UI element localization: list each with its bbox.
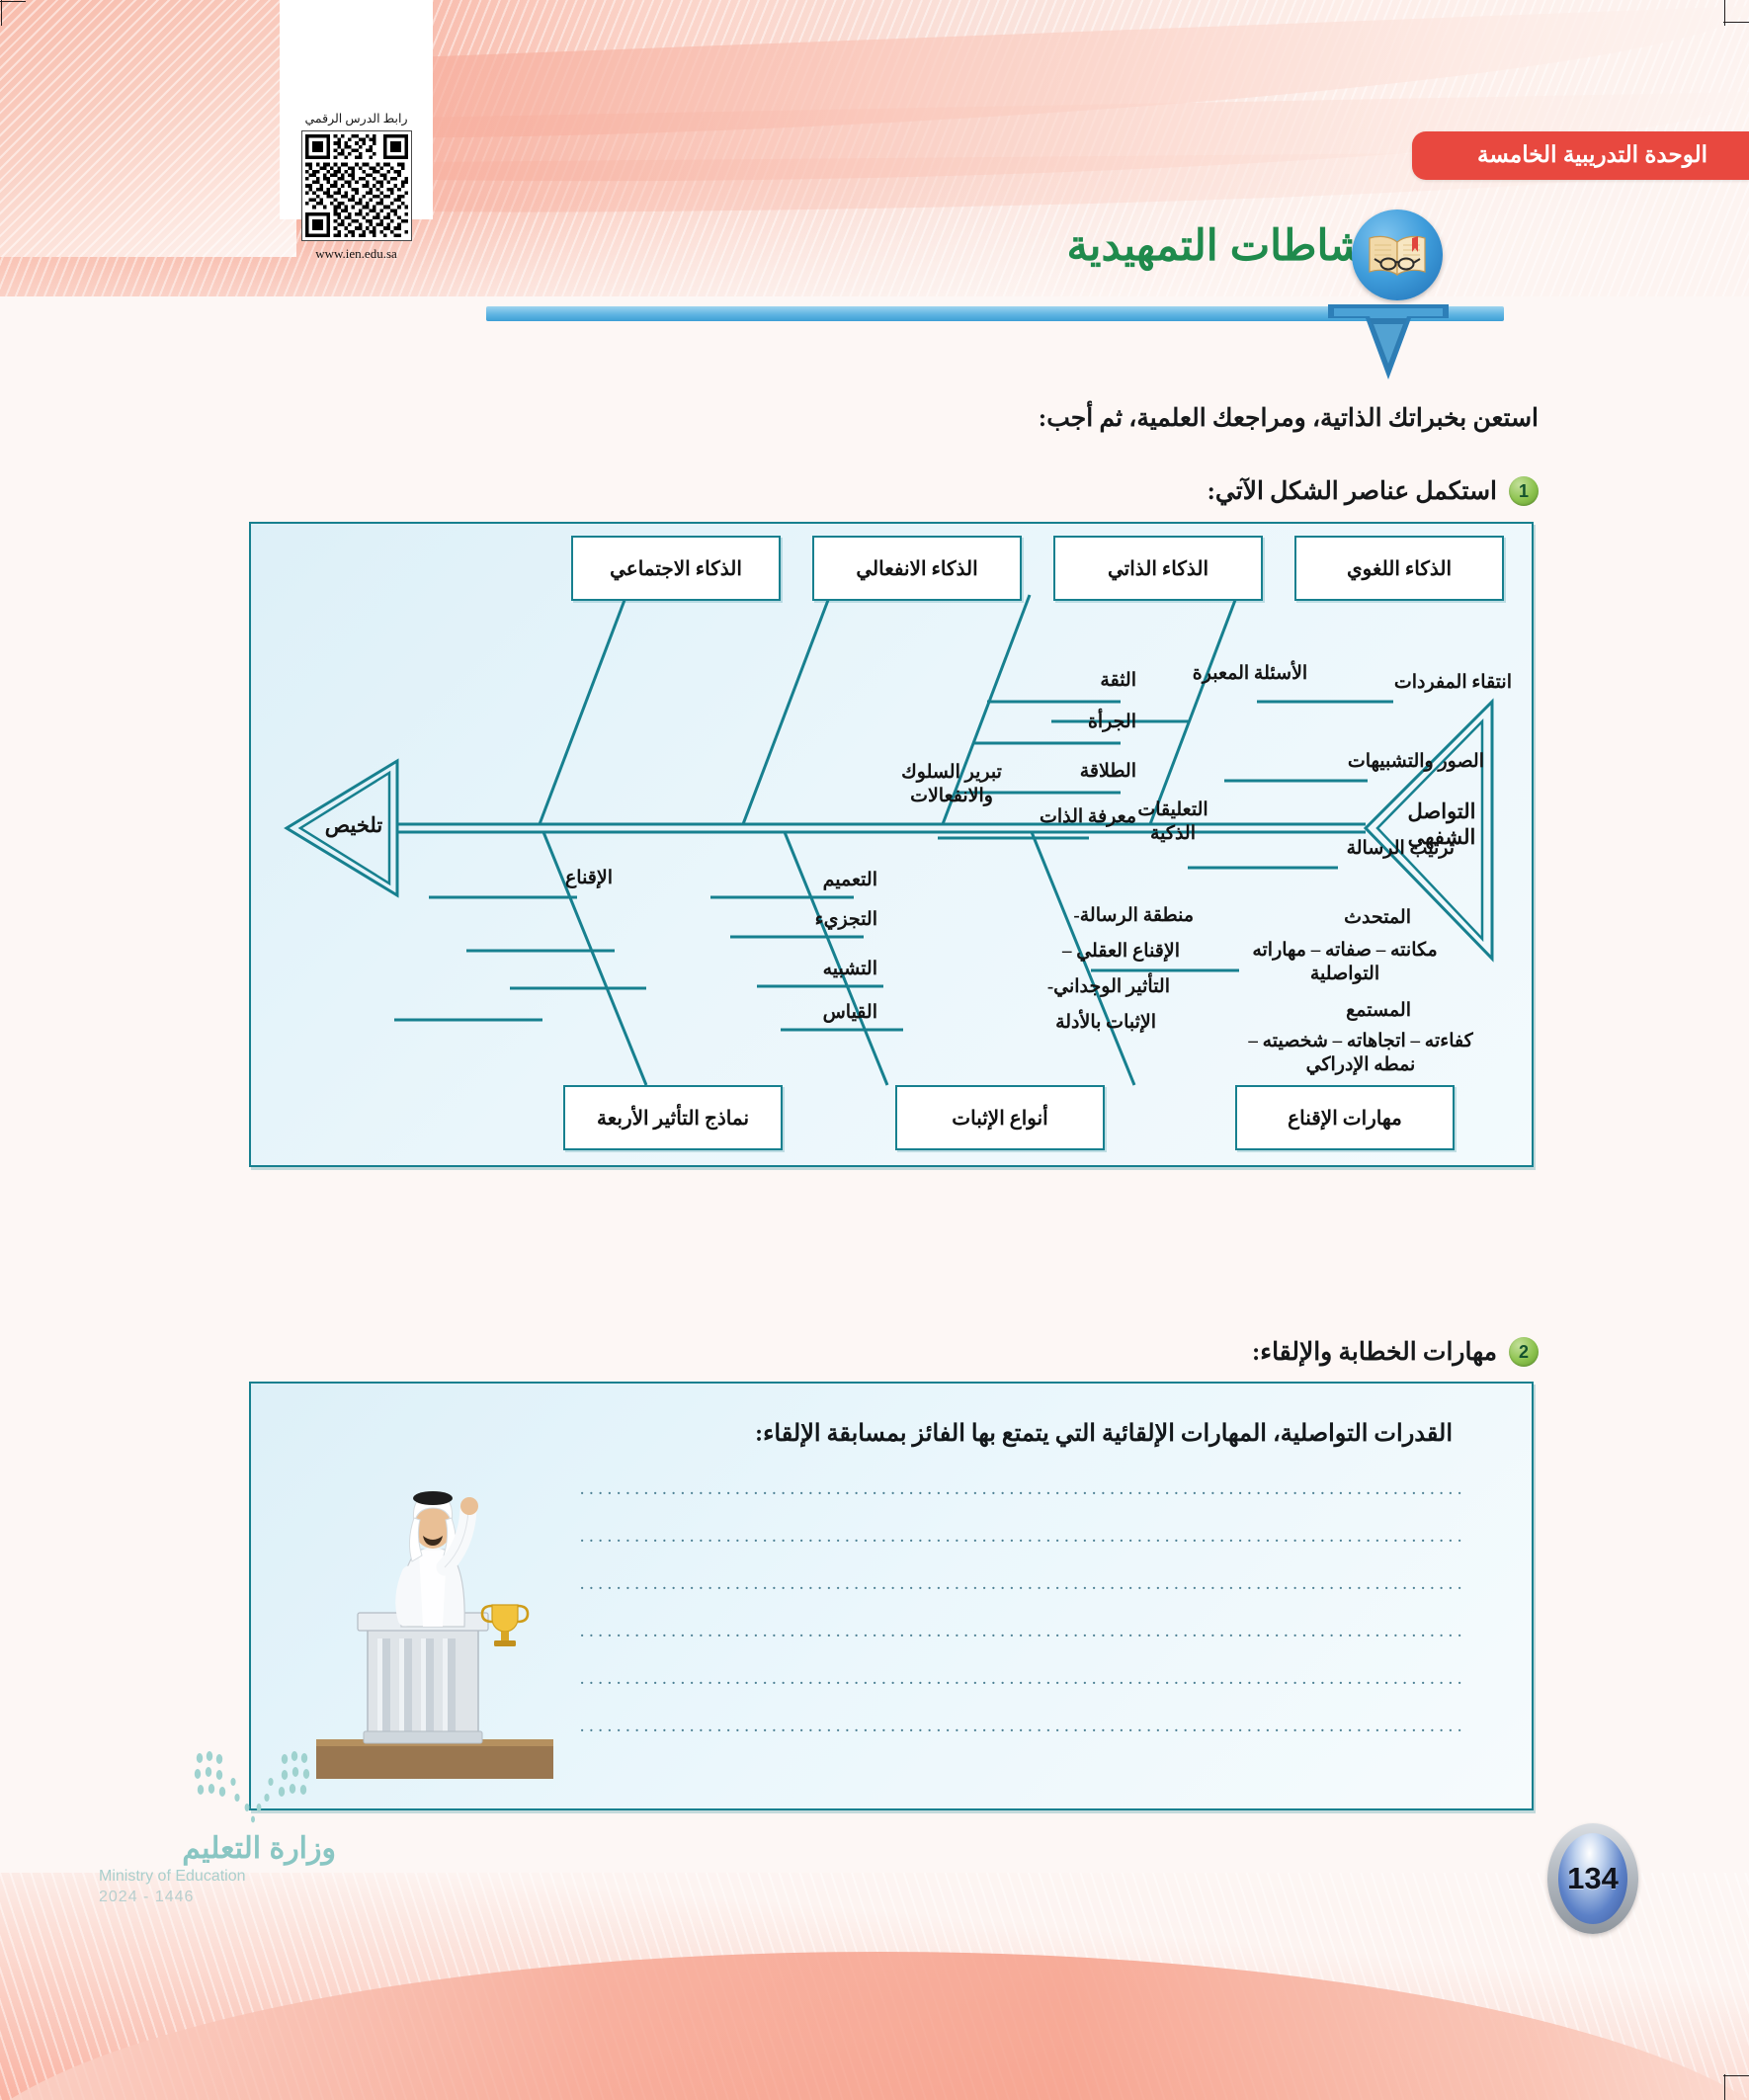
fishbone-bottom-box-influence-models: نماذج التأثير الأربعة <box>563 1085 783 1150</box>
writing-exercise-panel: القدرات التواصلية، المهارات الإلقائية ال… <box>249 1382 1534 1810</box>
ministry-name-ar: وزارة التعليم <box>99 1831 336 1866</box>
digital-lesson-qr-card[interactable]: رابط الدرس الرقمي <box>280 0 433 219</box>
book-glasses-icon <box>1352 210 1443 300</box>
fishbone-label-listener-traits: كفاءته – اتجاهاته – شخصيته – نمطه الإدرا… <box>1237 1030 1484 1078</box>
unit-banner: الوحدة التدريبية الخامسة <box>1412 131 1749 180</box>
fishbone-label-message-area: منطقة الرسالة- <box>1073 905 1194 928</box>
fishbone-label-evidence-proof: الإثبات بالأدلة <box>1055 1012 1156 1035</box>
answer-line-4[interactable]: ........................................… <box>577 1621 1466 1642</box>
fishbone-label-imagery: الصور والتشبيهات <box>1348 751 1484 774</box>
fishbone-bottom-box-persuasion-skills: مهارات الإقناع <box>1235 1085 1455 1150</box>
crop-mark-top-left-h <box>0 1 26 2</box>
fishbone-label-listener: المستمع <box>1346 1000 1411 1023</box>
question-2-text: مهارات الخطابة والإلقاء: <box>1252 1337 1497 1367</box>
fishbone-top-box-linguistic: الذكاء اللغوي <box>1294 536 1504 601</box>
fishbone-label-expressive-questions: الأسئلة المعبرة <box>1192 662 1308 686</box>
question-1-row: 1 استكمل عناصر الشكل الآتي: <box>1208 476 1539 506</box>
ministry-year: 2024 - 1446 <box>99 1889 336 1906</box>
fishbone-top-box-emotional: الذكاء الانفعالي <box>812 536 1022 601</box>
crop-mark-top-right-h <box>1723 22 1749 23</box>
speaker-at-podium-illustration <box>306 1457 563 1783</box>
answer-line-1[interactable]: ........................................… <box>577 1478 1466 1500</box>
intro-instruction: استعن بخبراتك الذاتية، ومراجعك العلمية، … <box>422 403 1539 433</box>
fishbone-label-speaker-traits: مكانته – صفاته – مهاراته التواصلية <box>1231 939 1458 987</box>
fishbone-label-persuasion: الإقناع <box>565 868 613 890</box>
ministry-logo: وزارة التعليم Ministry of Education 2024… <box>99 1750 336 1906</box>
fishbone-diagram-panel: الذكاء اللغوي الذكاء الذاتي الذكاء الانف… <box>249 522 1534 1167</box>
fishbone-label-analogy: التشبيه <box>823 959 877 981</box>
fishbone-bottom-box-proof-types: أنواع الإثبات <box>895 1085 1105 1150</box>
answer-line-5[interactable]: ........................................… <box>577 1668 1466 1690</box>
fishbone-label-rational-persuasion: الإقناع العقلي – <box>1062 941 1180 964</box>
question-1-text: استكمل عناصر الشكل الآتي: <box>1208 476 1497 506</box>
page-number: 134 <box>1558 1833 1627 1924</box>
fishbone-label-speaker: المتحدث <box>1344 907 1411 930</box>
fishbone-top-box-social: الذكاء الاجتماعي <box>571 536 781 601</box>
question-2-row: 2 مهارات الخطابة والإلقاء: <box>1252 1337 1539 1367</box>
fishbone-top-box-self: الذكاء الذاتي <box>1053 536 1263 601</box>
ministry-palm-dots-icon <box>188 1750 336 1827</box>
crop-mark-bottom-right-v <box>1724 2074 1725 2100</box>
qr-url-text: www.ien.edu.sa <box>315 246 397 262</box>
title-ribbon-arrow <box>1324 302 1453 383</box>
qr-label: رابط الدرس الرقمي <box>304 111 407 126</box>
fishbone-label-message-order: ترتيب الرسالة <box>1347 838 1455 861</box>
answer-line-3[interactable]: ........................................… <box>577 1573 1466 1595</box>
fishbone-label-fluency: الطلاقة <box>1080 761 1136 784</box>
fishbone-tail-label-line1: التواصل <box>1408 799 1476 823</box>
ministry-name-en: Ministry of Education <box>99 1868 336 1886</box>
crop-mark-top-left-v <box>1 0 2 26</box>
fishbone-label-fragmentation: التجزيء <box>815 909 877 932</box>
fishbone-label-generalisation: التعميم <box>823 870 877 892</box>
fishbone-label-confidence: الثقة <box>1100 670 1136 693</box>
question-2-badge: 2 <box>1509 1337 1539 1367</box>
fishbone-label-boldness: الجرأة <box>1088 712 1136 734</box>
fishbone-head-label: تلخيص <box>304 812 403 838</box>
left-decorative-strip <box>0 0 296 257</box>
fishbone-label-emotional-impact: التأثير الوجداني- <box>1047 976 1170 999</box>
crop-mark-bottom-right-h <box>1723 2075 1749 2076</box>
page-number-badge: 134 <box>1547 1823 1638 1934</box>
qr-code-icon[interactable] <box>301 130 412 241</box>
answer-line-6[interactable]: ........................................… <box>577 1716 1466 1737</box>
question-1-badge: 1 <box>1509 476 1539 506</box>
answer-line-2[interactable]: ........................................… <box>577 1526 1466 1548</box>
fishbone-label-measurement: القياس <box>823 1002 877 1025</box>
writing-prompt: القدرات التواصلية، المهارات الإلقائية ال… <box>755 1419 1453 1448</box>
fishbone-label-self-knowledge: معرفة الذات <box>1040 806 1136 829</box>
fishbone-label-word-choice: انتقاء المفردات <box>1394 672 1512 695</box>
textbook-page: رابط الدرس الرقمي <box>0 0 1749 2100</box>
fishbone-label-behaviour-justification: تبرير السلوك والانفعالات <box>864 761 1040 809</box>
